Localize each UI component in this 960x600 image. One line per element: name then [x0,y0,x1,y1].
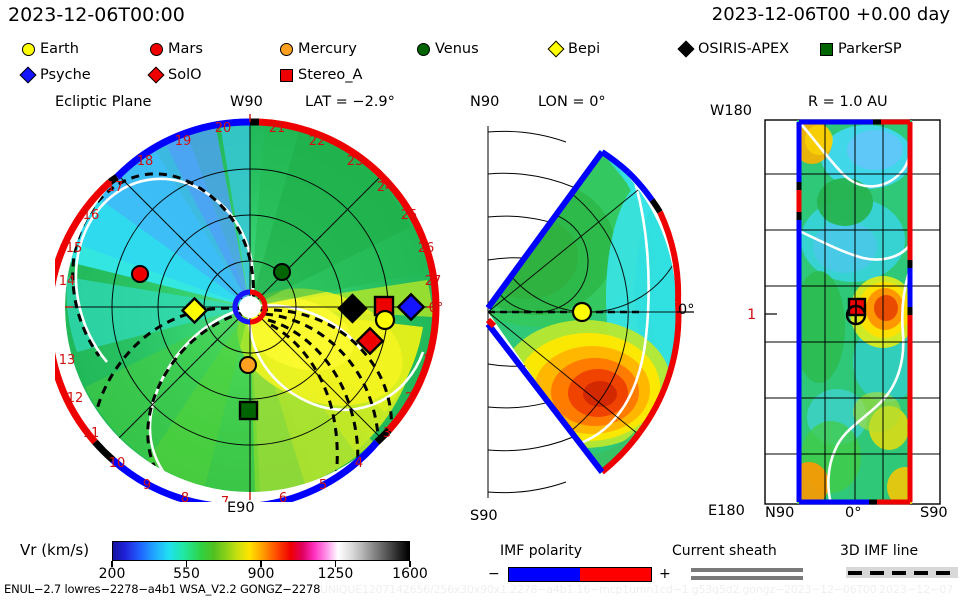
header-timestamp-left: 2023-12-06T00:00 [8,4,185,26]
meridional-plane-panel[interactable]: 0° [480,112,700,512]
colorbar-tick-label: 1250 [318,566,354,582]
velocity-colorbar[interactable] [112,541,410,561]
mercury-marker-icon [280,43,293,56]
legend-entry-bepi: Bepi [548,38,600,60]
legend-label: Mars [168,38,203,60]
osiris-apex-marker-icon [678,41,695,58]
legend-label: SolO [168,64,202,86]
ecliptic-plane-panel[interactable]: 0° 27 26 25 24 23 22 21 20 19 18 17 16 1… [55,112,445,502]
colorbar-tick-label: 200 [99,566,126,582]
legend-entry-solo: SolO [148,64,202,86]
svg-text:20: 20 [215,121,232,136]
ecliptic-w90-label: W90 [230,94,263,110]
sphere-bottom-label: E180 [708,503,745,519]
svg-text:6: 6 [279,491,287,502]
legend-label: Venus [435,38,479,60]
meridional-top-label: N90 [470,94,499,110]
svg-text:8: 8 [181,491,189,502]
sphere-xaxis-zero: 0° [845,505,861,521]
svg-text:15: 15 [66,241,83,256]
svg-text:12: 12 [67,391,84,406]
svg-text:19: 19 [175,134,192,149]
legend-label: Mercury [298,38,357,60]
current-sheath-swatch-bottom [691,576,803,580]
venus-marker-icon[interactable] [274,264,290,280]
svg-text:3: 3 [383,426,391,441]
colorbar-label: Vr (km/s) [20,541,89,559]
watermark-date: 2023−12−07 [879,583,953,596]
parkersp-marker-icon[interactable] [240,402,257,419]
legend-label: Psyche [40,64,91,86]
legend-entry-stereo-a: Stereo_A [278,64,362,86]
legend-entry-earth: Earth [20,38,79,60]
legend-entry-parkersp: ParkerSP [818,38,902,60]
svg-text:11: 11 [83,426,100,441]
svg-text:17: 17 [107,180,124,195]
svg-text:2: 2 [405,391,413,406]
earth-marker-icon [22,43,35,56]
sphere-panel[interactable]: 1 N90 0° S90 [757,112,917,512]
sun-marker [235,292,265,322]
sphere-body-markers[interactable] [847,298,865,324]
polarity-negative-swatch [509,568,580,581]
parkersp-marker-icon [820,43,833,56]
imf-polarity-bar [508,567,652,582]
svg-text:5: 5 [319,478,327,493]
colorbar-tick-label: 550 [173,566,200,582]
svg-text:26: 26 [418,241,435,256]
svg-text:10: 10 [109,456,126,471]
bepi-marker-icon [548,41,565,58]
legend-label: Earth [40,38,79,60]
svg-text:21: 21 [269,121,286,136]
svg-text:16: 16 [83,208,100,223]
mars-marker-icon[interactable] [132,266,148,282]
sphere-xaxis-s90: S90 [920,505,948,521]
run-id-footer: ENUL−2.7 lowres−2278−a4b1 WSA_V2.2 GONGZ… [4,582,320,596]
mercury-marker-icon[interactable] [240,357,256,373]
imf-polarity-minus: − [488,566,500,582]
legend-label: OSIRIS-APEX [698,38,789,60]
svg-text:25: 25 [401,208,418,223]
sphere-xaxis-n90: N90 [765,505,794,521]
imf-line-swatch [846,567,958,578]
sphere-radius-tick-label: 1 [747,307,756,323]
header-timestamp-right: 2023-12-06T00 +0.00 day [712,4,950,25]
current-sheath-title: Current sheath [672,543,777,559]
solo-marker-icon [148,67,165,84]
svg-text:4: 4 [355,456,363,471]
legend-label: ParkerSP [838,38,902,60]
svg-text:0°: 0° [429,301,444,316]
meridional-zero-deg-label: 0° [678,302,694,318]
psyche-marker-icon [20,67,37,84]
ecliptic-e90-label: E90 [227,500,255,516]
imf-polarity-plus: + [659,566,671,582]
legend-entry-mercury: Mercury [278,38,357,60]
legend-label: Bepi [568,38,600,60]
svg-text:18: 18 [137,154,154,169]
imf-polarity-title: IMF polarity [500,543,582,559]
stereo-a-marker-icon [280,69,293,82]
current-sheath-swatch-top [691,568,803,572]
svg-text:22: 22 [309,134,326,149]
svg-text:24: 24 [377,180,394,195]
venus-marker-icon [417,43,430,56]
svg-text:14: 14 [59,274,76,289]
colorbar-tick-label: 1600 [392,566,428,582]
imf-line-title: 3D IMF line [840,543,918,559]
legend-entry-venus: Venus [415,38,479,60]
legend-entry-osiris-apex: OSIRIS-APEX [678,38,789,60]
legend-entry-psyche: Psyche [20,64,91,86]
colorbar-tick-label: 900 [248,566,275,582]
mars-marker-icon [150,43,163,56]
svg-text:1: 1 [423,353,431,368]
sphere-top-label: W180 [710,103,752,119]
watermark-text: UNIQUE1207142656/256x30x90x1.2278−a4b1.1… [320,583,877,596]
sphere-panel-title: R = 1.0 AU [808,94,888,110]
svg-text:9: 9 [143,478,151,493]
earth-marker-icon[interactable] [376,311,394,329]
ecliptic-lat-label: LAT = −2.9° [305,94,395,110]
polarity-positive-swatch [580,568,651,581]
svg-text:13: 13 [59,353,76,368]
meridional-panel-title: LON = 0° [538,94,606,110]
svg-text:27: 27 [425,274,442,289]
colorbar-gradient [113,542,409,560]
ecliptic-panel-title: Ecliptic Plane [55,94,151,110]
svg-text:23: 23 [347,154,364,169]
legend-label: Stereo_A [298,64,362,86]
legend-entry-mars: Mars [148,38,203,60]
